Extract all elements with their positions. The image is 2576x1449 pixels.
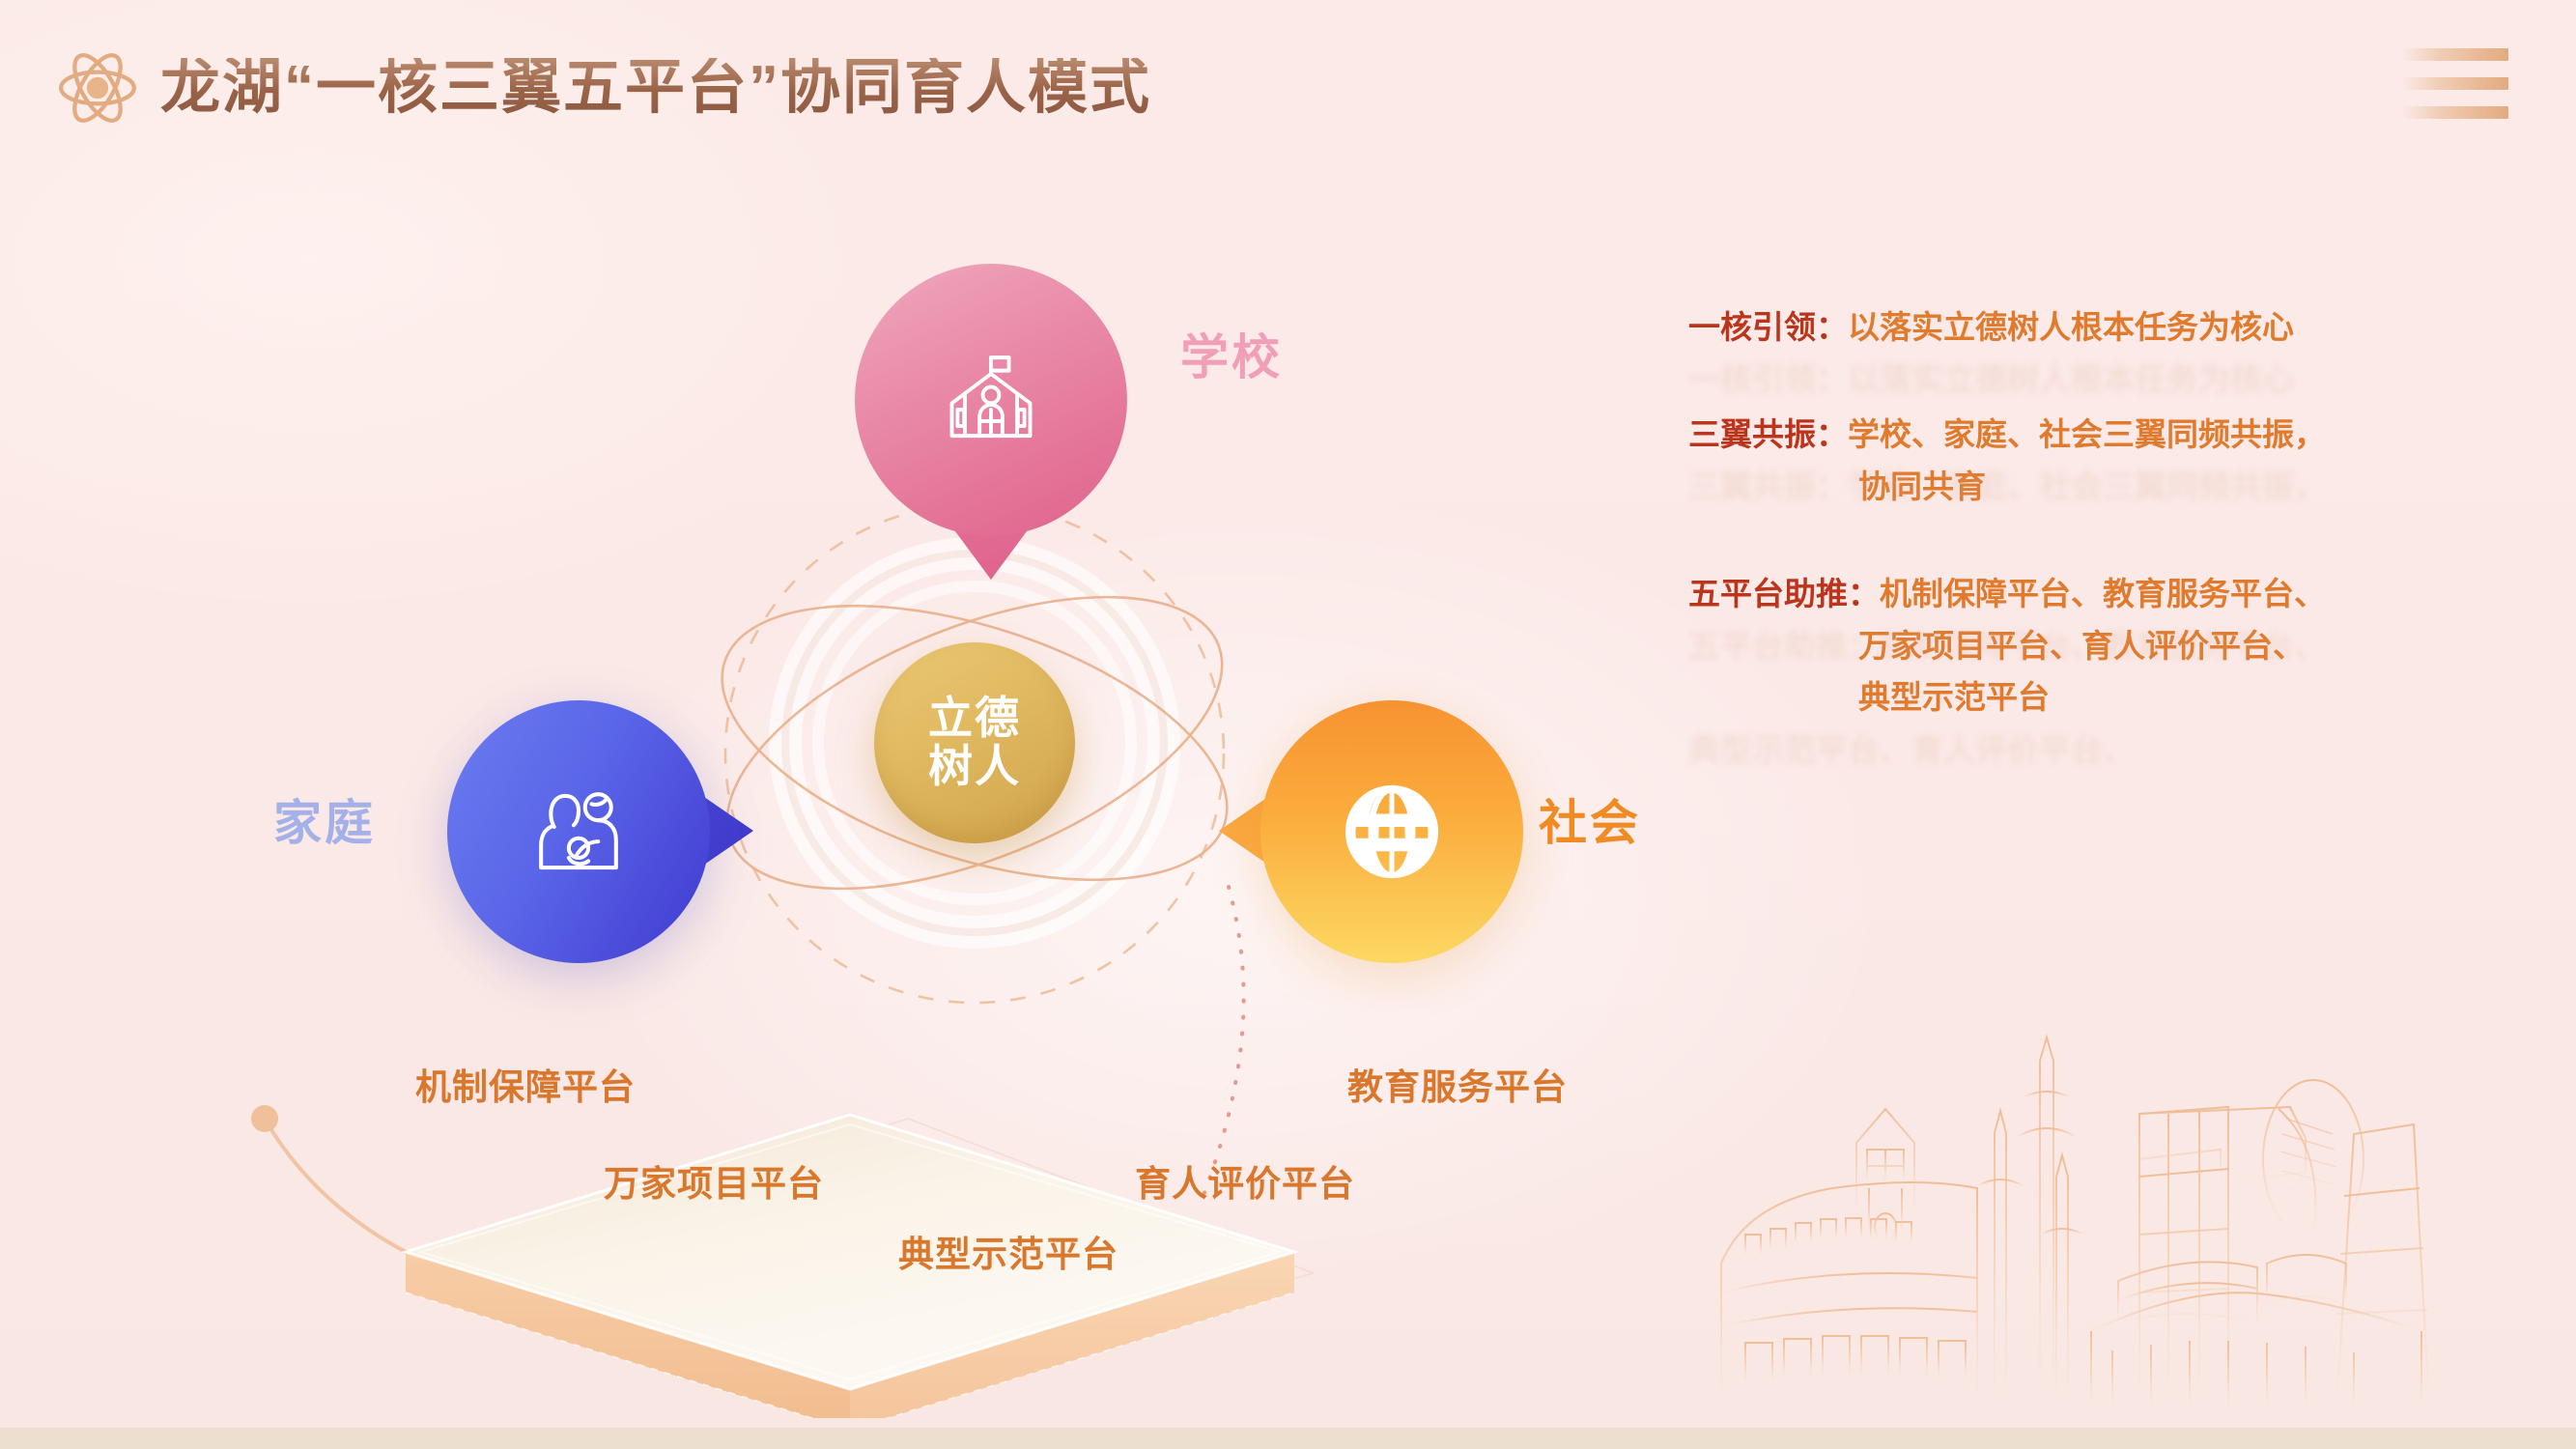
platform-label-1: 机制保障平台 bbox=[415, 1058, 636, 1110]
bottom-bar bbox=[0, 1428, 2576, 1449]
note-3-line-2: 万家项目平台、育人评价平台、 bbox=[1688, 620, 2509, 671]
hamburger-bar-2 bbox=[2402, 77, 2508, 90]
platform-label-5: 典型示范平台 bbox=[898, 1225, 1118, 1277]
note-item-1: 一核引领：以落实立德树人根本任务为核心 一核引领：以落实立德树人根本任务为核心 bbox=[1688, 301, 2509, 353]
note-1-body: 以落实立德树人根本任务为核心 bbox=[1848, 309, 2294, 345]
society-label: 社会 bbox=[1539, 784, 1641, 854]
platform-label-2: 教育服务平台 bbox=[1347, 1058, 1568, 1110]
globe-icon bbox=[1340, 780, 1444, 884]
family-pin[interactable] bbox=[447, 700, 710, 963]
family-label: 家庭 bbox=[273, 784, 376, 854]
core-line-2: 树人 bbox=[928, 743, 1021, 791]
school-pin[interactable] bbox=[855, 264, 1127, 536]
note-2-line-2: 协同共育 bbox=[1688, 461, 2509, 512]
platform-label-4: 育人评价平台 bbox=[1135, 1154, 1355, 1207]
note-3-line-1: 五平台助推：机制保障平台、教育服务平台、 bbox=[1688, 568, 2509, 619]
note-3-ghost-2: 典型示范平台、育人评价平台、 bbox=[1688, 724, 2509, 776]
note-2-line-1: 三翼共振：学校、家庭、社会三翼同频共振， bbox=[1688, 409, 2509, 460]
hamburger-icon[interactable] bbox=[2402, 48, 2508, 119]
note-1-line-1: 一核引领：以落实立德树人根本任务为核心 bbox=[1688, 301, 2509, 353]
note-item-2: 三翼共振：学校、家庭、社会三翼同频共振， 协同共育 三翼共振：学校、家庭、社会三… bbox=[1688, 409, 2509, 512]
notes-panel: 一核引领：以落实立德树人根本任务为核心 一核引领：以落实立德树人根本任务为核心 … bbox=[1688, 301, 2509, 724]
city-skyline-lineart bbox=[1687, 945, 2576, 1428]
note-3-line-3: 典型示范平台 bbox=[1688, 671, 2509, 723]
school-building-icon bbox=[939, 348, 1043, 452]
hamburger-bar-1 bbox=[2402, 48, 2508, 61]
hamburger-bar-3 bbox=[2402, 106, 2508, 119]
note-2-body-1: 学校、家庭、社会三翼同频共振， bbox=[1848, 416, 2326, 452]
note-2-label: 三翼共振： bbox=[1688, 416, 1848, 452]
core-sphere[interactable]: 立德 树人 bbox=[874, 642, 1075, 843]
note-3-label: 五平台助推： bbox=[1688, 576, 1880, 611]
school-label: 学校 bbox=[1180, 319, 1283, 388]
note-3-body-1: 机制保障平台、教育服务平台、 bbox=[1880, 576, 2326, 611]
family-parent-child-icon bbox=[526, 780, 631, 884]
note-1-label: 一核引领： bbox=[1688, 309, 1848, 345]
society-pin[interactable] bbox=[1260, 700, 1523, 963]
platform-label-3: 万家项目平台 bbox=[604, 1154, 824, 1207]
platform-isometric bbox=[386, 1090, 1314, 1418]
core-line-1: 立德 bbox=[928, 695, 1021, 743]
note-item-3: 五平台助推：机制保障平台、教育服务平台、 万家项目平台、育人评价平台、 典型示范… bbox=[1688, 568, 2509, 723]
platform-slab bbox=[386, 1090, 1314, 1418]
note-1-ghost: 一核引领：以落实立德树人根本任务为核心 bbox=[1688, 354, 2509, 405]
